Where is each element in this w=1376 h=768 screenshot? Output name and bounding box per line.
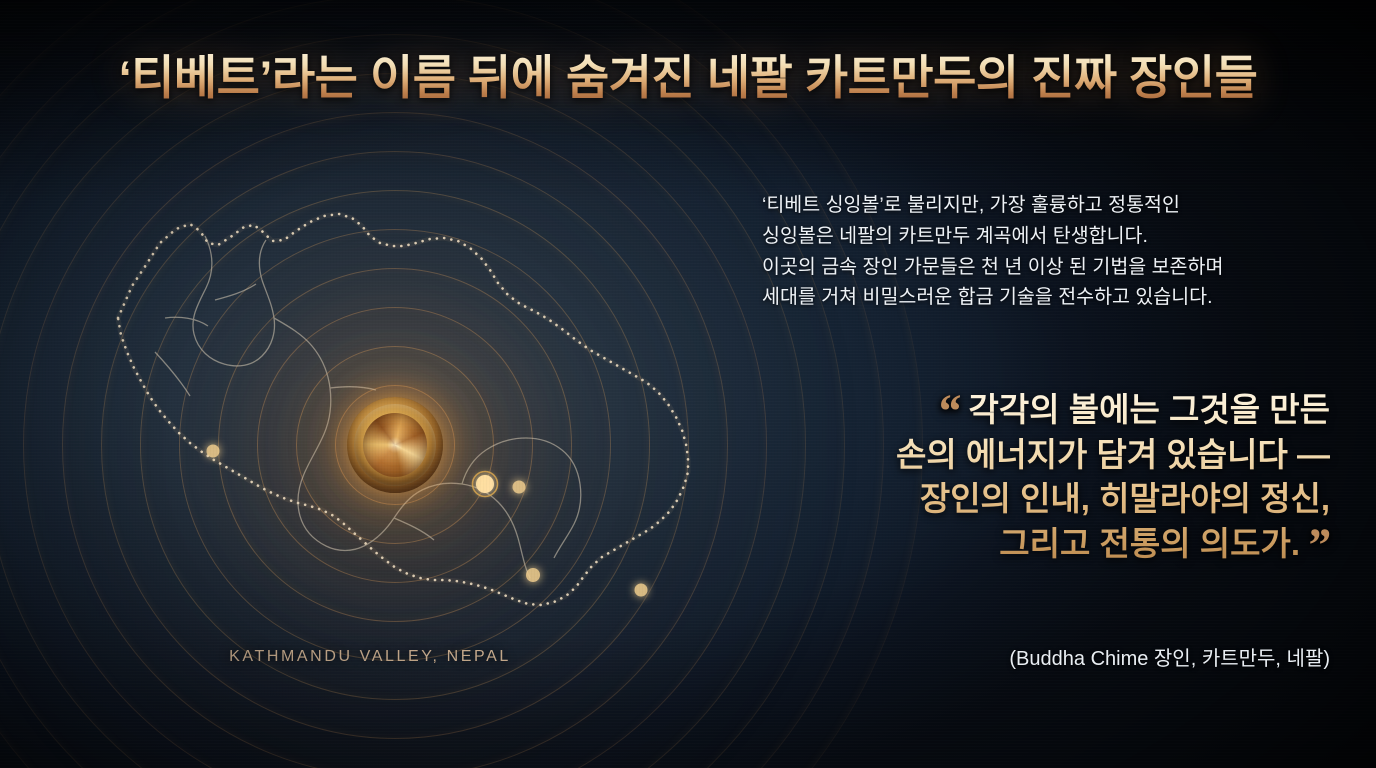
intro-line-1: ‘티베트 싱잉볼’로 불리지만, 가장 훌륭하고 정통적인 [762, 190, 1362, 221]
map-panel: KATHMANDU VALLEY, NEPAL [0, 0, 740, 768]
singing-bowl [347, 397, 443, 493]
intro-line-2: 싱잉볼은 네팔의 카트만두 계곡에서 탄생합니다. [762, 221, 1362, 252]
intro-line-4: 세대를 거쳐 비밀스러운 합금 기술을 전수하고 있습니다. [762, 282, 1362, 313]
quote-close-mark: ” [1306, 519, 1330, 572]
bowl-specular-highlight [369, 419, 421, 471]
quote-line-2: 손의 에너지가 담겨 있습니다 — [742, 433, 1330, 478]
slide-canvas: KATHMANDU VALLEY, NEPAL ‘티베트’라는 이름 뒤에 숨겨… [0, 0, 1376, 768]
quote-line-4-text: 그리고 전통의 의도가. [999, 525, 1300, 562]
quote-line-1-text: 각각의 볼에는 그것을 만든 [969, 391, 1330, 428]
marker-east-upper [513, 481, 526, 494]
bowl-outer-ring [347, 397, 443, 493]
intro-paragraph: ‘티베트 싱잉볼’로 불리지만, 가장 훌륭하고 정통적인 싱잉볼은 네팔의 카… [762, 190, 1362, 313]
map-caption: KATHMANDU VALLEY, NEPAL [0, 648, 740, 666]
quote-open-mark: “ [937, 385, 961, 438]
marker-kathmandu [476, 475, 494, 493]
marker-south-mid [526, 568, 540, 582]
quote-text: “각각의 볼에는 그것을 만든 손의 에너지가 담겨 있습니다 — 장인의 인내… [742, 388, 1330, 566]
quote-line-4: 그리고 전통의 의도가.” [742, 522, 1330, 567]
intro-line-3: 이곳의 금속 장인 가문들은 천 년 이상 된 기법을 보존하며 [762, 252, 1362, 283]
marker-south-east [635, 584, 648, 597]
quote-line-1: “각각의 볼에는 그것을 만든 [742, 388, 1330, 433]
quote-attribution: (Buddha Chime 장인, 카트만두, 네팔) [742, 642, 1330, 671]
pull-quote: “각각의 볼에는 그것을 만든 손의 에너지가 담겨 있습니다 — 장인의 인내… [742, 388, 1330, 566]
quote-line-3: 장인의 인내, 히말라야의 정신, [742, 477, 1330, 522]
marker-west [207, 445, 220, 458]
content-column: ‘티베트 싱잉볼’로 불리지만, 가장 훌륭하고 정통적인 싱잉볼은 네팔의 카… [740, 0, 1376, 768]
